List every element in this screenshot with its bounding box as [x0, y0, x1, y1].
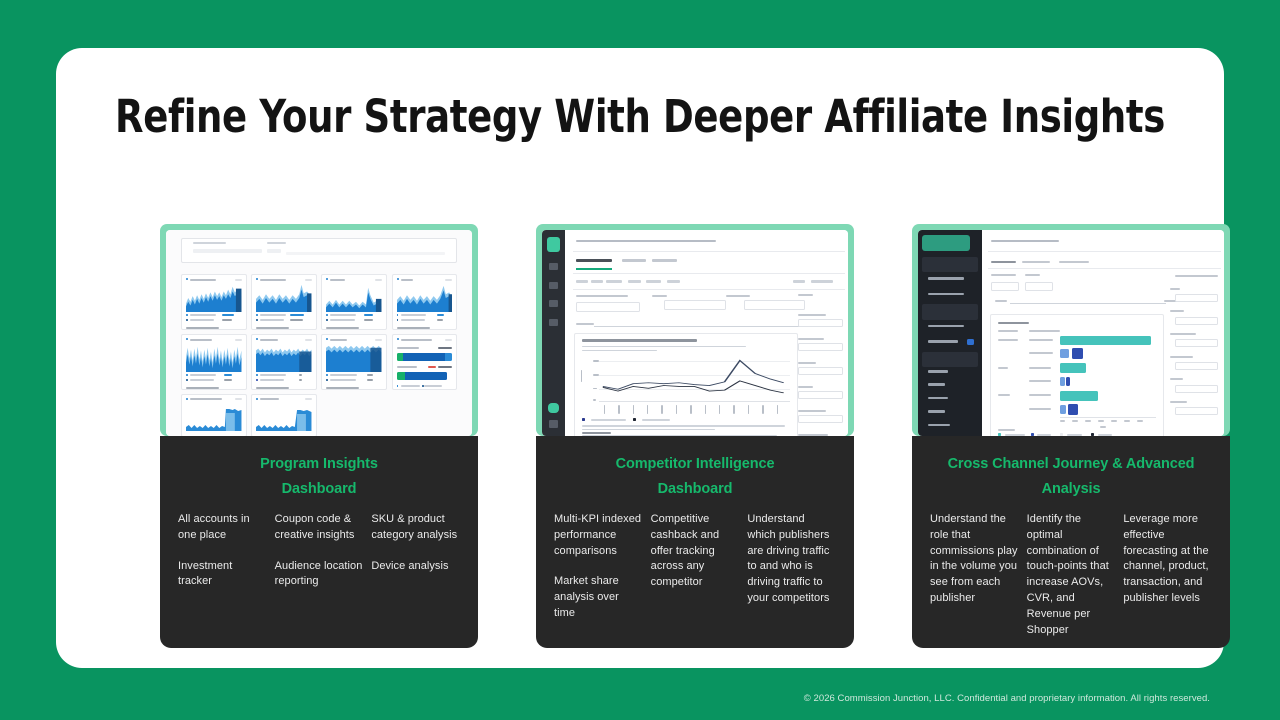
legend-label	[642, 419, 671, 421]
nav-group-customer-analysis[interactable]	[922, 304, 977, 319]
card-title-line: Competitor Intelligence	[554, 452, 836, 477]
description-line	[582, 425, 786, 427]
dashboard-art-line-chart	[542, 230, 848, 436]
bar-blue-dark	[1068, 404, 1078, 415]
y-tick-label	[593, 388, 597, 390]
filter-label-customer-country	[798, 338, 825, 340]
bullet-item: Understand which publishers are driving …	[747, 512, 836, 607]
bullet-item: Leverage more effective forecasting at t…	[1123, 512, 1212, 607]
filter-select-partner-type[interactable]	[1175, 407, 1218, 415]
legend-text	[190, 319, 214, 321]
column-header-channel	[1029, 330, 1060, 332]
chart-card	[990, 314, 1164, 436]
help-bubble-icon[interactable]	[548, 403, 559, 413]
stacked-bar	[397, 372, 448, 380]
metric-tile	[251, 334, 316, 390]
card-title-line: Program Insights	[178, 452, 460, 477]
nav-icon-reports[interactable]	[549, 263, 558, 270]
nav-item-overview[interactable]	[928, 370, 947, 373]
legend-swatch	[633, 418, 636, 421]
legend-value	[222, 319, 233, 321]
chart-subtitle	[582, 346, 746, 348]
bar-delta	[428, 366, 436, 368]
legend-dot	[186, 319, 188, 321]
slider-label	[995, 300, 1007, 302]
toolbar-share[interactable]	[628, 280, 642, 283]
legend-swatch	[582, 418, 585, 421]
bar-blue-light	[1060, 349, 1069, 358]
nav-item-product[interactable]	[928, 383, 945, 386]
y-axis-title	[581, 370, 582, 383]
metric-tile	[251, 274, 316, 330]
nav-item-affiliate-customer-journey[interactable]	[928, 340, 958, 343]
card-panel-program-insights: Program Insights Dashboard All accounts …	[160, 436, 478, 648]
chart-title	[582, 339, 697, 342]
tile-header	[256, 278, 311, 281]
field-label-category	[576, 295, 628, 297]
line-chart-series	[599, 355, 789, 401]
nav-item-performance[interactable]	[928, 293, 964, 296]
card-title-line: Cross Channel Journey & Advanced	[930, 452, 1212, 477]
nav-item-shipping[interactable]	[928, 410, 945, 413]
toolbar-dashboard[interactable]	[811, 280, 832, 283]
description-line	[582, 429, 715, 431]
x-tick-label	[719, 405, 720, 413]
card-title-line: Dashboard	[554, 477, 836, 502]
area-chart	[397, 284, 452, 312]
card-bullet-columns: Multi-KPI indexed performance comparison…	[554, 512, 836, 622]
toolbar-export[interactable]	[646, 280, 661, 283]
app-sidebar-rail	[542, 230, 565, 436]
tile-header	[326, 278, 381, 281]
filter-select-retail-type[interactable]	[798, 367, 844, 375]
thumbnail-competitor-intelligence[interactable]	[536, 224, 854, 436]
filter-value-currency	[267, 249, 281, 253]
metric-tile	[181, 394, 246, 436]
field-label-dimension	[991, 274, 1015, 276]
card-bullet-columns: Understand the role that commissions pla…	[930, 512, 1212, 638]
row-label-channel	[1029, 367, 1051, 369]
x-tick-label	[618, 405, 619, 413]
bullet-column: All accounts in one place Investment tra…	[178, 512, 267, 590]
select-dimension[interactable]	[991, 282, 1019, 291]
range-slider-track[interactable]	[594, 326, 805, 327]
toolbar-edit[interactable]	[793, 280, 805, 283]
x-tick-label	[705, 405, 706, 413]
filter-label-browser	[798, 386, 814, 388]
bullet-column: Understand which publishers are driving …	[747, 512, 836, 622]
column-header-measure	[998, 330, 1019, 332]
app-sidebar	[918, 230, 982, 436]
divider	[988, 251, 1221, 252]
card-title: Competitor Intelligence Dashboard	[554, 452, 836, 502]
select-category[interactable]	[576, 302, 640, 312]
filter-label-device	[1170, 378, 1182, 380]
area-chart	[186, 405, 241, 431]
bullet-column: Competitive cashback and offer tracking …	[651, 512, 740, 622]
x-axis-title	[1100, 426, 1107, 428]
x-axis	[599, 401, 789, 402]
tile-header	[186, 278, 241, 281]
tile-header	[397, 338, 452, 341]
x-tick-label	[690, 405, 691, 413]
x-axis	[1060, 417, 1157, 418]
x-tick-label	[1137, 420, 1143, 422]
divider	[573, 251, 845, 252]
bar-value	[438, 366, 452, 368]
nav-group-program-analysis[interactable]	[922, 257, 977, 272]
dashboard-art-bar-flow	[918, 230, 1224, 436]
tile-header	[186, 398, 241, 401]
breadcrumb	[991, 240, 1058, 242]
thumbnail-image-cross-channel-journey	[918, 230, 1224, 436]
slide-panel: Refine Your Strategy With Deeper Affilia…	[56, 48, 1224, 668]
filter-label-daterange	[193, 242, 226, 244]
toolbar-save[interactable]	[591, 280, 603, 283]
x-tick-label	[1111, 420, 1117, 422]
bar-teal	[1060, 391, 1098, 400]
bullet-column: Identify the optimal combination of touc…	[1027, 512, 1116, 638]
slider-label	[576, 323, 594, 325]
card-title-line: Analysis	[930, 477, 1212, 502]
bar-teal	[1060, 363, 1086, 372]
filter-select-customer-country[interactable]	[798, 343, 844, 351]
metric-tile	[321, 334, 386, 390]
x-tick-label	[604, 405, 605, 413]
metric-tile	[181, 274, 246, 330]
x-tick-label	[676, 405, 677, 413]
insight-card-cross-channel-journey: Cross Channel Journey & Advanced Analysi…	[912, 224, 1230, 648]
row-label-channel	[1029, 394, 1051, 396]
area-chart	[326, 344, 381, 372]
legend-text	[190, 314, 215, 316]
filter-bar	[181, 238, 456, 263]
filter-value-daterange	[193, 249, 261, 253]
insight-card-competitor-intelligence: Competitor Intelligence Dashboard Multi-…	[536, 224, 854, 648]
filter-label-promotional-model	[1170, 356, 1193, 358]
area-chart	[186, 284, 241, 312]
nav-icon-flag[interactable]	[549, 300, 558, 307]
bullet-item: Investment tracker	[178, 559, 267, 591]
legend-dot	[186, 314, 188, 316]
row-label-group	[998, 339, 1019, 341]
tab-dashboard[interactable]	[991, 261, 1015, 263]
y-tick-label	[593, 360, 600, 362]
toolbar-reset[interactable]	[606, 280, 621, 283]
card-panel-cross-channel-journey: Cross Channel Journey & Advanced Analysi…	[912, 436, 1230, 648]
nav-icon-user[interactable]	[549, 420, 558, 427]
x-tick-label	[661, 405, 662, 413]
bullet-item: Audience location reporting	[275, 559, 364, 591]
bullet-column: SKU & product category analysis Device a…	[371, 512, 460, 590]
x-tick-label	[1072, 420, 1078, 422]
bar-label	[397, 347, 420, 349]
row-label-group	[998, 394, 1010, 396]
filter-select-channel[interactable]	[1175, 317, 1218, 325]
tab-data-configuration[interactable]	[1022, 261, 1050, 263]
legend-label	[591, 419, 626, 421]
legend-value	[222, 314, 235, 316]
row-label-channel	[1029, 352, 1053, 354]
toolbar-print[interactable]	[667, 280, 679, 283]
field-label-kpi	[652, 295, 667, 297]
bullet-column: Multi-KPI indexed performance comparison…	[554, 512, 643, 622]
bullet-item: Multi-KPI indexed performance comparison…	[554, 512, 643, 559]
filter-select-customer-segments[interactable]	[798, 319, 844, 327]
insight-card-program-insights: Program Insights Dashboard All accounts …	[160, 224, 478, 648]
bullet-item: Market share analysis over time	[554, 574, 643, 621]
bullet-item: Understand the role that commissions pla…	[930, 512, 1019, 607]
y-tick-label	[593, 399, 596, 401]
field-label-kpi	[1025, 274, 1040, 276]
select-kpi[interactable]	[1025, 282, 1053, 291]
row-label-channel	[1029, 408, 1051, 410]
range-slider-track[interactable]	[1010, 303, 1166, 304]
card-panel-competitor-intelligence: Competitor Intelligence Dashboard Multi-…	[536, 436, 854, 648]
filter-label-promotional-model	[798, 410, 826, 412]
filter-label-customer-segments	[798, 314, 826, 316]
field-label-date	[726, 295, 750, 297]
filter-select-promotional-model[interactable]	[1175, 362, 1218, 370]
area-chart	[256, 284, 311, 312]
filter-label-retail-type	[798, 362, 816, 364]
tile-subtitle	[186, 327, 219, 329]
row-label-group	[998, 367, 1008, 369]
filter-select-device[interactable]	[1175, 385, 1218, 393]
area-chart	[186, 344, 241, 372]
chart-title	[998, 322, 1029, 324]
thumbnail-image-program-insights	[166, 230, 472, 436]
bar-teal	[1060, 336, 1151, 345]
filter-select-date[interactable]	[1175, 294, 1218, 302]
x-tick-label	[1098, 420, 1104, 422]
bullet-column: Understand the role that commissions pla…	[930, 512, 1019, 638]
filter-divider	[286, 252, 445, 255]
bar-blue-dark	[1072, 348, 1083, 360]
area-chart	[256, 344, 311, 372]
divider	[573, 289, 845, 290]
row-label-channel	[1029, 380, 1051, 382]
app-logo	[547, 237, 560, 251]
nav-item-performance-advanced[interactable]	[928, 424, 950, 427]
dashboard-art-area-charts	[166, 230, 472, 436]
bar-blue-dark	[1066, 377, 1070, 386]
divider	[988, 268, 1221, 269]
thumbnail-image-competitor-intelligence	[542, 230, 848, 436]
card-title-line: Dashboard	[178, 477, 460, 502]
filter-group-title	[798, 294, 814, 296]
y-tick-label	[593, 374, 600, 376]
metric-tile	[251, 394, 316, 436]
bullet-item: SKU & product category analysis	[371, 512, 460, 544]
x-tick-label	[633, 405, 634, 413]
filter-select-browser[interactable]	[798, 391, 844, 399]
bullet-item: All accounts in one place	[178, 512, 267, 544]
x-tick-label	[762, 405, 763, 413]
x-tick-label	[1060, 420, 1065, 422]
bullet-item: Coupon code & creative insights	[275, 512, 364, 544]
x-tick-label	[777, 405, 778, 413]
bar-blue-light	[1060, 377, 1065, 386]
tile-header	[256, 338, 311, 341]
metric-tile-stacked-bars	[392, 334, 457, 390]
divider	[573, 273, 845, 274]
nav-item-program-overview[interactable]	[928, 277, 964, 280]
chart-subtitle	[582, 350, 657, 352]
filter-group-title	[1175, 275, 1218, 277]
thumbnail-program-insights[interactable]	[160, 224, 478, 436]
page-title: Refine Your Strategy With Deeper Affilia…	[106, 90, 1175, 143]
thumbnail-cross-channel-journey[interactable]	[912, 224, 1230, 436]
tile-header	[186, 338, 241, 341]
x-tick-label	[1124, 420, 1130, 422]
card-title: Program Insights Dashboard	[178, 452, 460, 502]
tab-kpi-change[interactable]	[652, 259, 676, 262]
card-title: Cross Channel Journey & Advanced Analysi…	[930, 452, 1212, 502]
description-heading	[582, 432, 611, 435]
nav-icon-settings[interactable]	[549, 319, 558, 326]
nav-badge-new	[967, 339, 974, 346]
filter-label-date	[1170, 288, 1179, 290]
copyright-footer: © 2026 Commission Junction, LLC. Confide…	[804, 693, 1210, 704]
tab-active-underline	[576, 268, 613, 269]
toolbar-new[interactable]	[576, 280, 588, 283]
bar-value	[438, 347, 452, 349]
tab-monthly-trends[interactable]	[576, 259, 613, 262]
select-date-range[interactable]	[744, 300, 805, 310]
bar-blue-light	[1060, 405, 1066, 414]
metric-tile	[321, 274, 386, 330]
bullet-item: Competitive cashback and offer tracking …	[651, 512, 740, 591]
area-chart	[326, 284, 381, 312]
x-tick-label	[1085, 420, 1091, 422]
x-tick-label	[647, 405, 648, 413]
bullet-item: Identify the optimal combination of touc…	[1027, 512, 1116, 638]
card-bullet-columns: All accounts in one place Investment tra…	[178, 512, 460, 590]
nav-icon-insights[interactable]	[549, 282, 558, 289]
bullet-column: Coupon code & creative insights Audience…	[275, 512, 364, 590]
tile-header	[256, 398, 311, 401]
x-tick-label	[748, 405, 749, 413]
area-chart	[256, 405, 311, 431]
bar-label	[397, 366, 417, 368]
filter-label-partner-type	[1170, 401, 1187, 403]
metric-tile	[181, 334, 246, 390]
breadcrumb	[576, 240, 717, 242]
filter-select-promotional-model[interactable]	[798, 415, 844, 423]
nav-item-new-capture-return[interactable]	[928, 325, 964, 328]
stacked-bar	[397, 353, 452, 361]
select-kpi[interactable]	[664, 300, 725, 310]
nav-group-advanced-analysis[interactable]	[922, 352, 977, 367]
tab-daily-trends[interactable]	[622, 259, 646, 262]
legend-title	[998, 429, 1015, 431]
metric-tile	[392, 274, 457, 330]
tile-header	[326, 338, 381, 341]
filter-label-channel	[1170, 310, 1184, 312]
x-tick-label	[733, 405, 734, 413]
tab-multi-channel-path[interactable]	[1059, 261, 1090, 263]
bullet-item: Device analysis	[371, 559, 460, 575]
bullet-column: Leverage more effective forecasting at t…	[1123, 512, 1212, 638]
nav-item-customer[interactable]	[928, 397, 947, 400]
tile-header	[397, 278, 452, 281]
app-brand-logo	[922, 235, 970, 250]
filter-label-currency	[267, 242, 286, 244]
filter-label-commission-rate	[1170, 333, 1196, 335]
filter-select-commission-rate[interactable]	[1175, 339, 1218, 347]
chart-card	[574, 333, 797, 436]
row-label-channel	[1029, 339, 1053, 341]
